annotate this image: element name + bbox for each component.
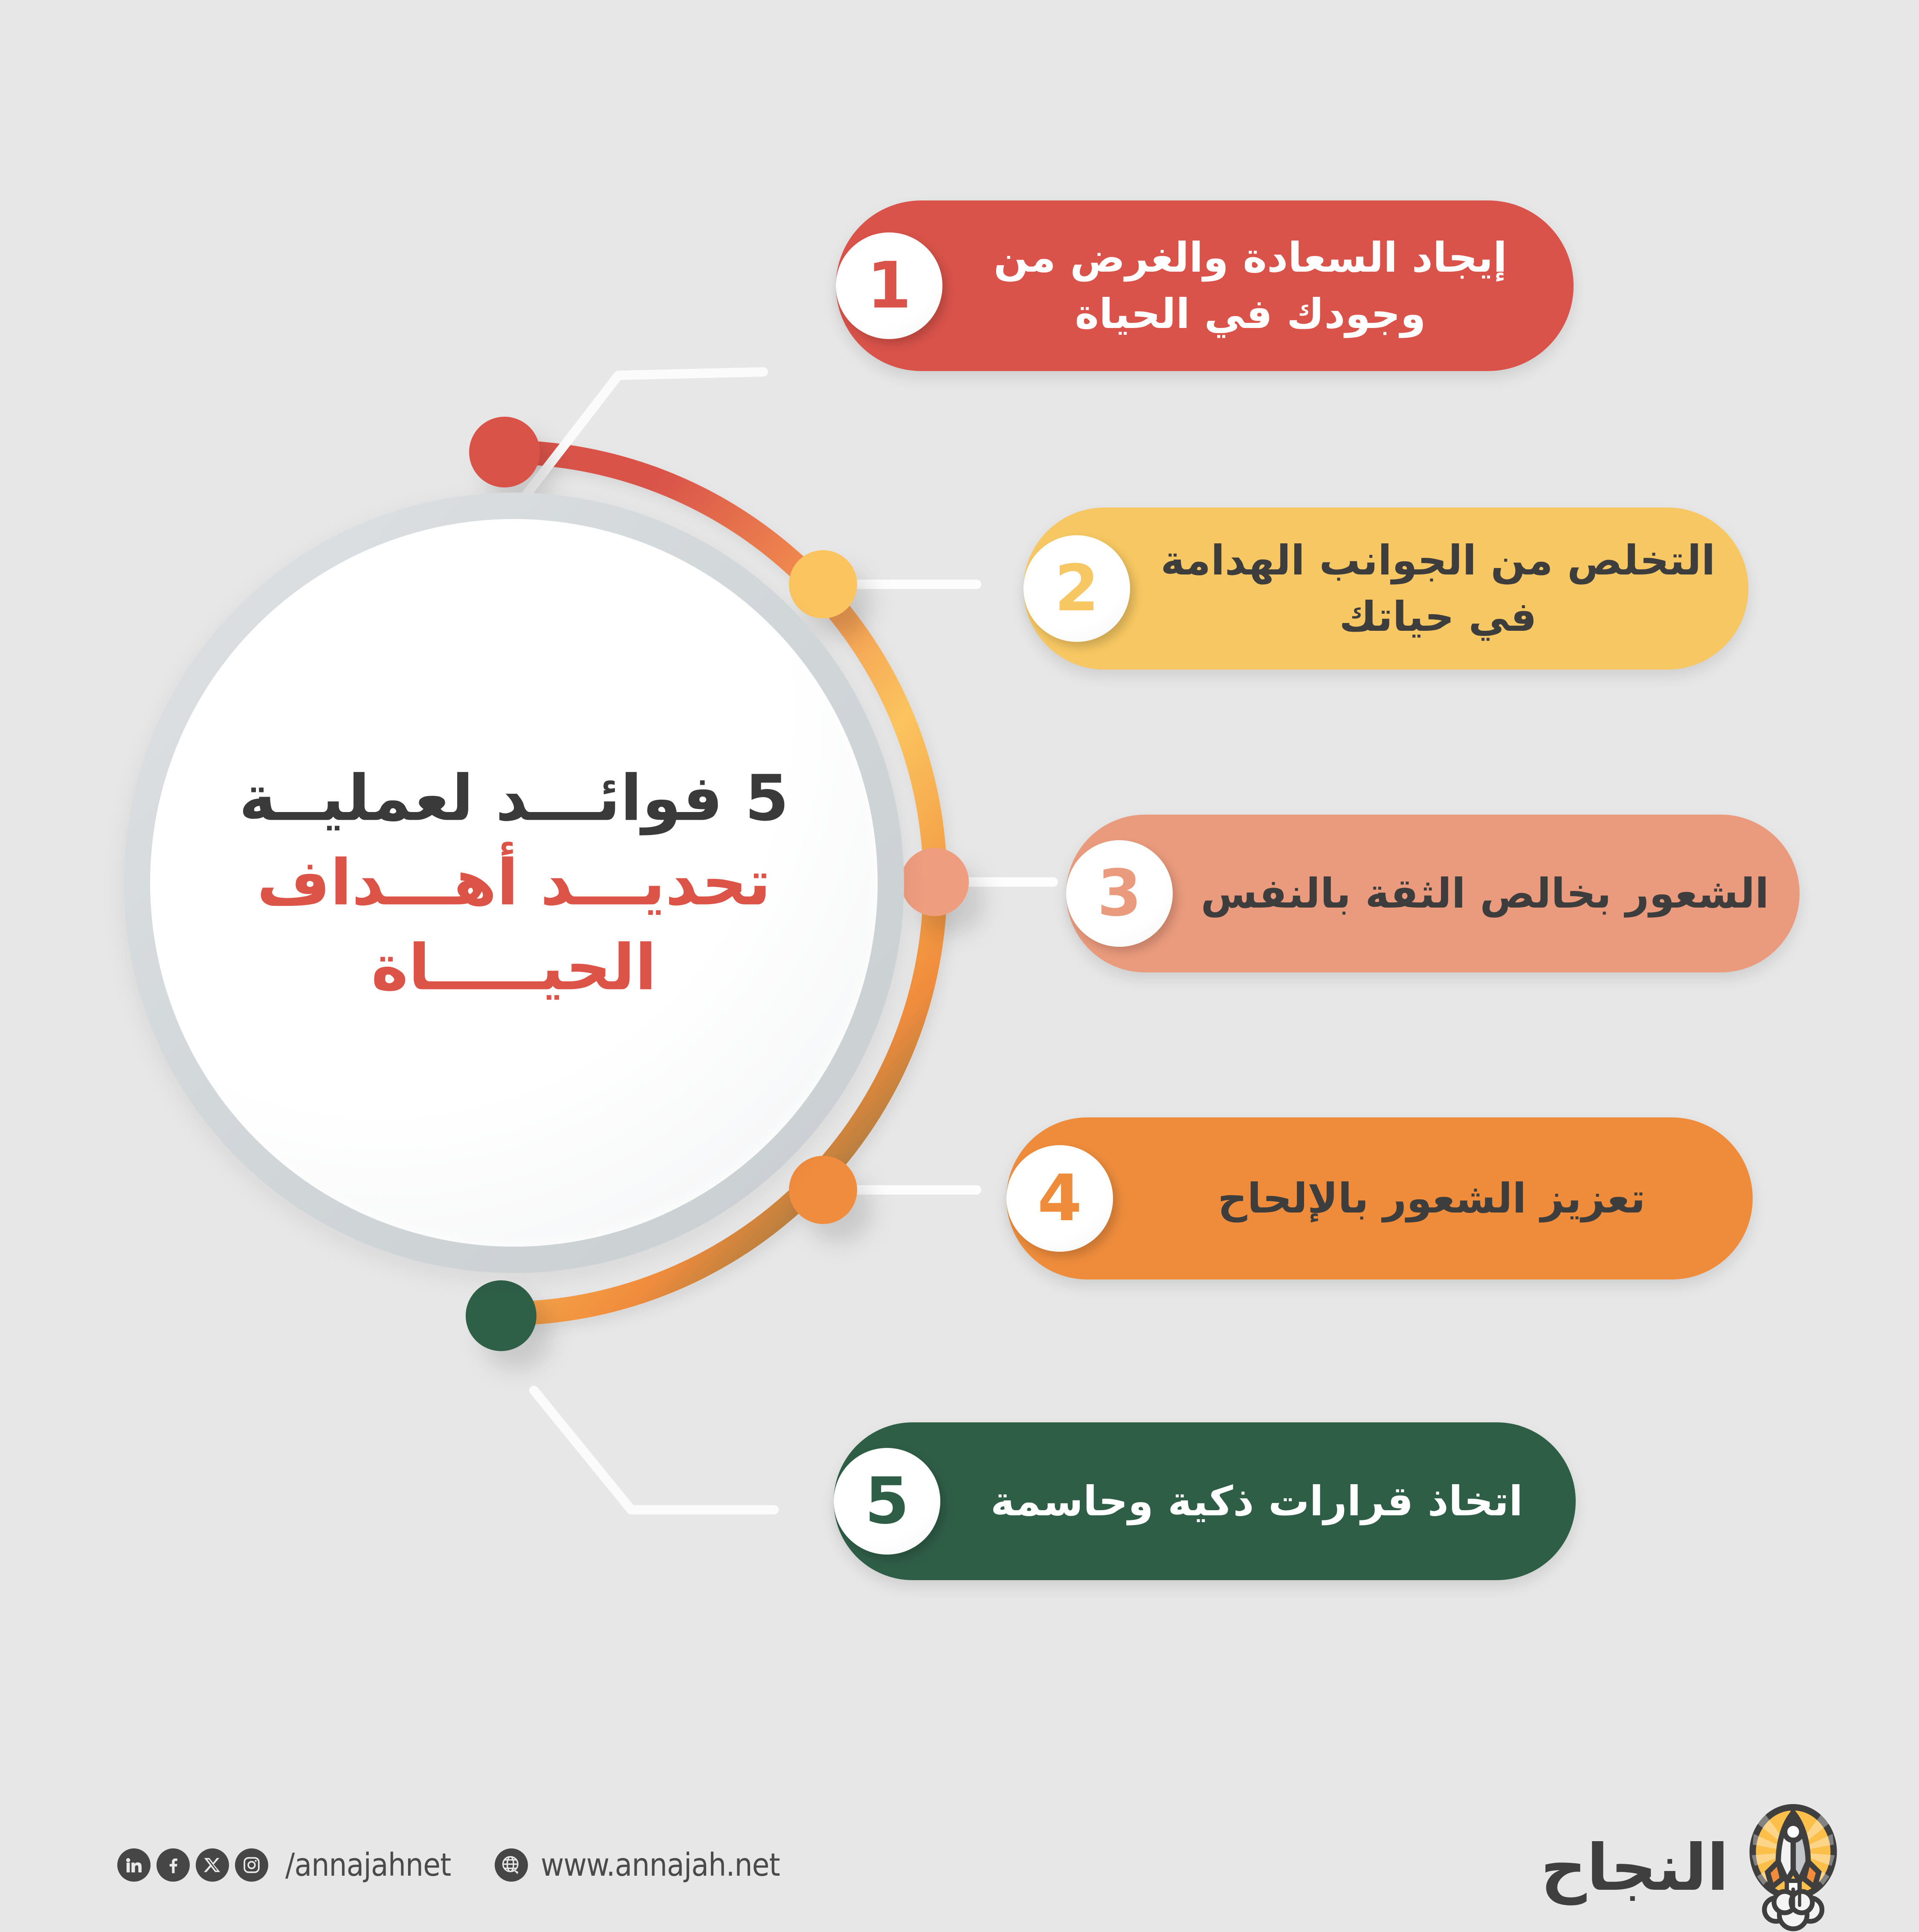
arc-dot-1[interactable] <box>469 417 540 487</box>
infographic-canvas: 5 فوائـــد لعمليــة تحديـــد أهـــداف ال… <box>0 0 1919 1919</box>
brand-logo: النجاح <box>1540 1804 1847 1932</box>
benefit-item-3[interactable]: 3 الشعور بخالص الثقة بالنفس <box>1066 815 1800 972</box>
rocket-logo-icon <box>1740 1804 1847 1932</box>
connector-line-1 <box>525 372 763 497</box>
center-circle-inner: 5 فوائـــد لعمليــة تحديـــد أهـــداف ال… <box>150 519 878 1247</box>
website-link[interactable]: www.annajah.net <box>495 1847 780 1883</box>
benefit-item-5[interactable]: 5 اتخاذ قرارات ذكية وحاسمة <box>834 1422 1576 1580</box>
social-handle[interactable]: /annajahnet <box>285 1847 451 1883</box>
center-circle: 5 فوائـــد لعمليــة تحديـــد أهـــداف ال… <box>124 493 904 1273</box>
benefit-item-1[interactable]: 1 إيجاد السعادة والغرض من وجودك في الحيا… <box>836 200 1574 371</box>
benefit-label-2: التخلص من الجوانب الهدامة في حياتك <box>1130 532 1748 645</box>
benefit-number-badge-1: 1 <box>836 232 942 339</box>
benefit-number-badge-5: 5 <box>834 1448 940 1555</box>
facebook-icon[interactable] <box>157 1848 190 1882</box>
benefit-number-badge-2: 2 <box>1023 535 1130 642</box>
linkedin-icon[interactable] <box>117 1848 151 1882</box>
center-title-line-1: 5 فوائـــد لعمليــة <box>214 756 814 841</box>
benefit-label-4: تعزيز الشعور بالإلحاح <box>1113 1170 1753 1227</box>
center-title-line-2: تحديـــد أهـــداف <box>214 841 814 925</box>
benefit-item-2[interactable]: 2 التخلص من الجوانب الهدامة في حياتك <box>1023 508 1748 670</box>
center-title-line-3: الحيـــــاة <box>214 925 814 1010</box>
benefit-number-badge-4: 4 <box>1006 1145 1113 1252</box>
benefit-label-5: اتخاذ قرارات ذكية وحاسمة <box>940 1473 1576 1529</box>
benefit-number-badge-3: 3 <box>1066 840 1173 947</box>
arc-dot-3[interactable] <box>901 848 969 916</box>
brand-name: النجاح <box>1540 1836 1729 1900</box>
website-url[interactable]: www.annajah.net <box>541 1847 780 1883</box>
globe-icon[interactable] <box>495 1848 528 1882</box>
arc-dot-5[interactable] <box>466 1280 536 1351</box>
benefit-item-4[interactable]: 4 تعزيز الشعور بالإلحاح <box>1006 1117 1753 1279</box>
x-twitter-icon[interactable] <box>196 1848 229 1882</box>
benefit-label-3: الشعور بخالص الثقة بالنفس <box>1173 865 1800 922</box>
benefit-label-1: إيجاد السعادة والغرض من وجودك في الحياة <box>942 229 1561 342</box>
social-links: /annajahnet <box>117 1847 451 1883</box>
center-title: 5 فوائـــد لعمليــة تحديـــد أهـــداف ال… <box>150 756 878 1010</box>
connector-line-5 <box>534 1390 774 1510</box>
instagram-icon[interactable] <box>235 1848 268 1882</box>
